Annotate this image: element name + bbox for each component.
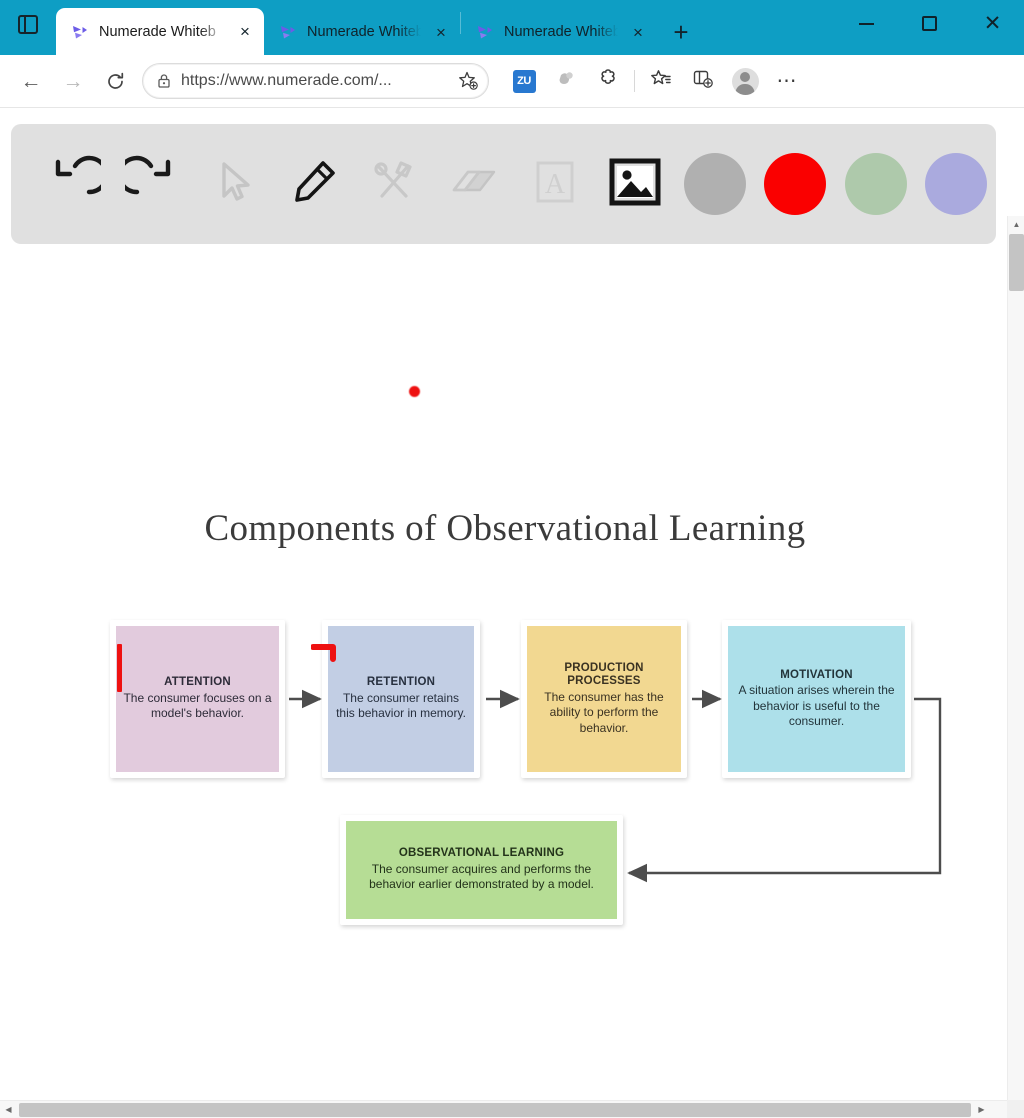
node-body: The consumer acquires and performs the b… <box>351 862 612 893</box>
numerade-logo-icon <box>278 22 298 42</box>
browser-tab-2[interactable]: Numerade Whiteb × <box>264 9 460 55</box>
zu-extension-button[interactable]: ZU <box>503 60 545 102</box>
url-text[interactable]: https://www.numerade.com/... <box>181 72 447 90</box>
node-body: A situation arises wherein the behavior … <box>733 683 900 729</box>
scroll-up-button[interactable]: ▲ <box>1008 216 1024 233</box>
vertical-scrollbar[interactable]: ▲ ▼ <box>1007 216 1024 1118</box>
horizontal-scroll-thumb[interactable] <box>19 1103 971 1117</box>
gray-extension-button[interactable] <box>545 60 587 102</box>
puzzle-extension-button[interactable] <box>587 60 629 102</box>
diagram-node-retention[interactable]: RETENTION The consumer retains this beha… <box>322 620 480 778</box>
node-heading: PRODUCTION PROCESSES <box>532 662 676 689</box>
red-hook-annotation <box>311 642 341 662</box>
node-heading: OBSERVATIONAL LEARNING <box>399 847 564 861</box>
red-bar-annotation <box>117 644 122 692</box>
scroll-right-button[interactable]: ▶ <box>973 1101 990 1118</box>
whiteboard-canvas[interactable]: A <box>0 108 1007 1083</box>
favorites-button[interactable] <box>640 60 682 102</box>
diagram-node-attention[interactable]: ATTENTION The consumer focuses on a mode… <box>110 620 285 778</box>
close-icon: ✕ <box>984 13 1002 34</box>
more-options-icon: ⋯ <box>777 71 798 91</box>
tab-search-icon <box>18 15 38 34</box>
numerade-logo-icon <box>475 22 495 42</box>
gray-extension-icon <box>554 67 578 96</box>
browser-settings-button[interactable]: ⋯ <box>766 60 808 102</box>
tab-search-button[interactable] <box>0 0 56 55</box>
diagram-node-production-processes[interactable]: PRODUCTION PROCESSES The consumer has th… <box>521 620 687 778</box>
add-favorite-star-icon[interactable] <box>456 69 480 93</box>
collections-button[interactable] <box>682 60 724 102</box>
node-heading: RETENTION <box>367 676 435 690</box>
tab-title: Numerade Whiteb <box>99 24 225 40</box>
reload-icon <box>105 71 126 92</box>
back-arrow-icon: ← <box>21 71 42 92</box>
horizontal-scrollbar[interactable]: ◀ ▶ <box>0 1100 1024 1118</box>
node-body: The consumer focuses on a model's behavi… <box>121 691 274 722</box>
observational-learning-diagram: Components of Observational Learning <box>0 108 1007 1083</box>
collections-icon <box>691 67 715 96</box>
browser-tab-3[interactable]: Numerade Whiteb × <box>461 9 657 55</box>
toolbar-divider <box>634 70 635 92</box>
close-window-button[interactable]: ✕ <box>961 0 1024 47</box>
node-body: The consumer retains this behavior in me… <box>333 691 469 722</box>
page-content: A <box>0 108 1024 1118</box>
vertical-scroll-thumb[interactable] <box>1009 234 1024 291</box>
scrollbar-corner <box>1007 1100 1024 1118</box>
minimize-button[interactable] <box>835 0 898 47</box>
diagram-connectors <box>0 108 1007 1083</box>
tab-close-button[interactable]: × <box>234 21 256 43</box>
browser-titlebar: Numerade Whiteb × Numerade Whiteb × <box>0 0 1024 55</box>
tab-close-button[interactable]: × <box>627 21 649 43</box>
window-controls: ✕ <box>835 0 1024 55</box>
browser-navbar: ← → https://www.numerade.com/... <box>0 55 1024 108</box>
diagram-node-observational-learning[interactable]: OBSERVATIONAL LEARNING The consumer acqu… <box>340 815 623 925</box>
maximize-icon <box>922 16 937 31</box>
lock-icon <box>156 72 172 90</box>
favorites-star-icon <box>649 67 673 96</box>
node-heading: MOTIVATION <box>780 669 852 683</box>
profile-avatar-icon <box>732 68 759 95</box>
back-button[interactable]: ← <box>10 60 52 102</box>
scroll-left-button[interactable]: ◀ <box>0 1101 17 1118</box>
tab-close-button[interactable]: × <box>430 21 452 43</box>
tab-title: Numerade Whiteb <box>307 24 421 40</box>
address-bar[interactable]: https://www.numerade.com/... <box>142 63 489 99</box>
puzzle-extension-icon <box>596 67 620 96</box>
maximize-button[interactable] <box>898 0 961 47</box>
reload-button[interactable] <box>94 60 136 102</box>
zu-extension-icon: ZU <box>513 70 536 93</box>
new-tab-button[interactable]: + <box>663 14 699 50</box>
profile-button[interactable] <box>724 60 766 102</box>
diagram-node-motivation[interactable]: MOTIVATION A situation arises wherein th… <box>722 620 911 778</box>
browser-tab-1[interactable]: Numerade Whiteb × <box>56 8 264 55</box>
node-body: The consumer has the ability to perform … <box>532 690 676 736</box>
numerade-logo-icon <box>70 22 90 42</box>
extensions-area: ZU <box>503 60 808 102</box>
tab-title: Numerade Whiteb <box>504 24 618 40</box>
forward-button[interactable]: → <box>52 60 94 102</box>
forward-arrow-icon: → <box>63 71 84 92</box>
tab-strip: Numerade Whiteb × Numerade Whiteb × <box>56 0 699 55</box>
minimize-icon <box>859 23 874 25</box>
node-heading: ATTENTION <box>164 676 231 690</box>
